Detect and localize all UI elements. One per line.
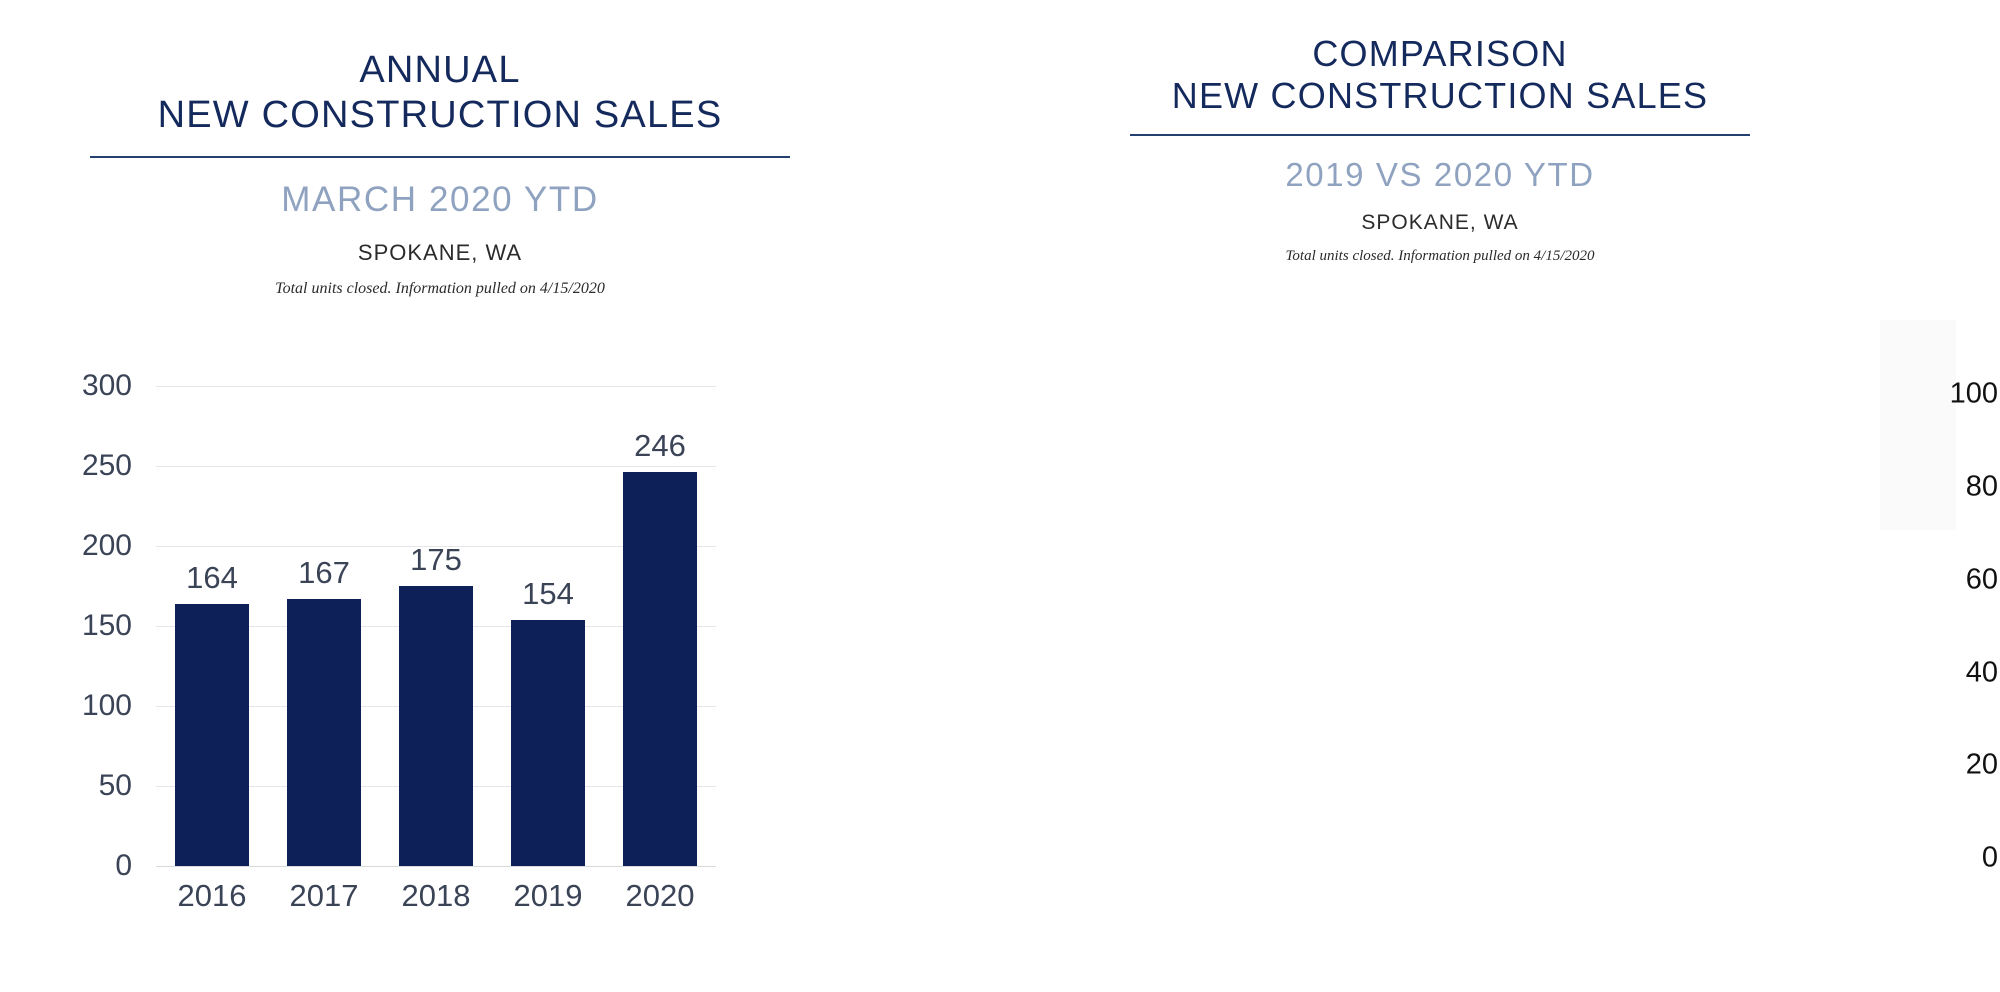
annual-bar[interactable] <box>287 599 361 866</box>
annual-y-tick-label: 200 <box>82 529 132 563</box>
comparison-title-line2: NEW CONSTRUCTION SALES <box>880 75 2000 117</box>
dashboard-page: ANNUAL NEW CONSTRUCTION SALES MARCH 2020… <box>0 0 2000 992</box>
annual-x-tick-label: 2020 <box>623 878 697 914</box>
annual-bar-column[interactable]: 154 <box>511 386 585 866</box>
comparison-y-tick-label: 100 <box>1950 378 1998 411</box>
annual-title-divider <box>90 156 790 158</box>
comparison-y-tick-label: 40 <box>1966 656 1998 689</box>
annual-bar-value-label: 246 <box>634 428 686 464</box>
comparison-sales-chart: 100806040200 20192020 7532731751094049 W… <box>1880 320 2000 880</box>
annual-x-tick-label: 2017 <box>287 878 361 914</box>
annual-y-tick-label: 0 <box>115 849 132 883</box>
annual-bar[interactable] <box>175 604 249 866</box>
annual-x-tick-label: 2019 <box>511 878 585 914</box>
annual-bar-column[interactable]: 164 <box>175 386 249 866</box>
annual-y-axis: 300250200150100500 <box>60 386 132 866</box>
annual-bar-column[interactable]: 246 <box>623 386 697 866</box>
annual-y-tick-label: 250 <box>82 449 132 483</box>
annual-subtitle: MARCH 2020 YTD <box>0 180 880 220</box>
annual-x-tick-label: 2016 <box>175 878 249 914</box>
comparison-y-tick-label: 0 <box>1982 842 1998 875</box>
annual-header: ANNUAL NEW CONSTRUCTION SALES MARCH 2020… <box>0 0 880 298</box>
annual-bar-value-label: 164 <box>186 560 238 596</box>
annual-bar-value-label: 154 <box>522 576 574 612</box>
comparison-y-axis: 100806040200 <box>1880 348 1998 858</box>
annual-gridline <box>156 866 716 867</box>
comparison-y-tick-label: 80 <box>1966 471 1998 504</box>
annual-y-tick-label: 300 <box>82 369 132 403</box>
comparison-y-tick-label: 60 <box>1966 563 1998 596</box>
annual-y-tick-label: 100 <box>82 689 132 723</box>
annual-x-axis: 20162017201820192020 <box>156 878 716 914</box>
annual-note: Total units closed. Information pulled o… <box>0 280 880 298</box>
comparison-sales-panel: COMPARISON NEW CONSTRUCTION SALES 2019 V… <box>880 0 2000 992</box>
annual-plot-area: 164167175154246 <box>156 386 716 866</box>
annual-bar-column[interactable]: 167 <box>287 386 361 866</box>
comparison-title-divider <box>1130 134 1750 136</box>
annual-y-tick-label: 50 <box>99 769 132 803</box>
annual-bar-column[interactable]: 175 <box>399 386 473 866</box>
annual-title-line1: ANNUAL <box>0 48 880 93</box>
annual-sales-panel: ANNUAL NEW CONSTRUCTION SALES MARCH 2020… <box>0 0 880 992</box>
annual-x-tick-label: 2018 <box>399 878 473 914</box>
annual-bar[interactable] <box>623 472 697 866</box>
annual-location: SPOKANE, WA <box>0 240 880 266</box>
annual-title: ANNUAL NEW CONSTRUCTION SALES <box>0 0 880 138</box>
comparison-header: COMPARISON NEW CONSTRUCTION SALES 2019 V… <box>880 0 2000 265</box>
comparison-title-line1: COMPARISON <box>880 33 2000 75</box>
annual-title-line2: NEW CONSTRUCTION SALES <box>0 93 880 138</box>
comparison-title: COMPARISON NEW CONSTRUCTION SALES <box>880 0 2000 118</box>
comparison-subtitle: 2019 VS 2020 YTD <box>880 156 2000 194</box>
annual-bar[interactable] <box>511 620 585 866</box>
annual-bar-series: 164167175154246 <box>156 386 716 866</box>
annual-bar[interactable] <box>399 586 473 866</box>
annual-y-tick-label: 150 <box>82 609 132 643</box>
annual-bar-value-label: 167 <box>298 555 350 591</box>
annual-sales-chart: 300250200150100500 164167175154246 20162… <box>60 386 820 886</box>
comparison-location: SPOKANE, WA <box>880 211 2000 235</box>
comparison-note: Total units closed. Information pulled o… <box>880 248 2000 265</box>
comparison-y-tick-label: 20 <box>1966 749 1998 782</box>
annual-bar-value-label: 175 <box>410 542 462 578</box>
